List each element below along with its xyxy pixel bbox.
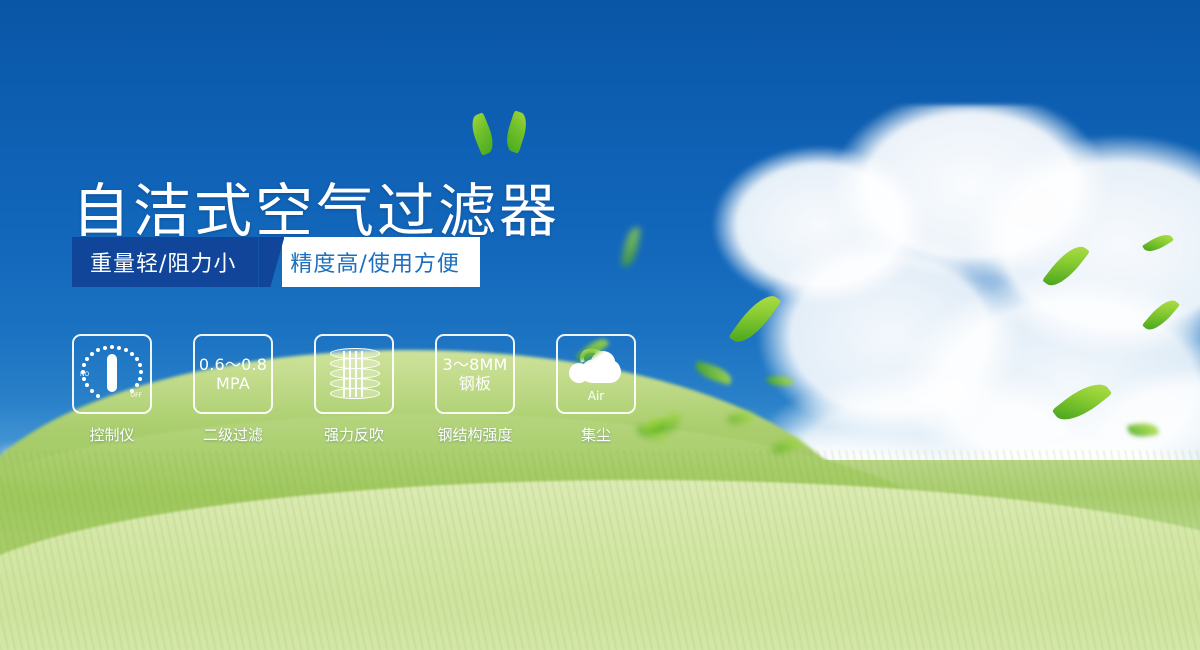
gauge-needle xyxy=(107,354,117,392)
sprout-leaves-icon xyxy=(470,108,540,160)
filter-cartridge-icon xyxy=(330,348,378,400)
tagline-right: 精度高/使用方便 xyxy=(282,237,479,287)
gauge-label-off: OFF xyxy=(130,392,142,399)
feature-caption: 集尘 xyxy=(581,424,611,445)
steel-thickness-text: 3～8MM xyxy=(443,355,508,374)
floating-leaf xyxy=(621,226,640,268)
feature-icon-box xyxy=(314,334,394,414)
feature-strong-backblow[interactable]: 强力反吹 xyxy=(314,334,394,445)
pressure-range-text: 0.6～0.8 xyxy=(199,355,267,374)
tagline-bar: 重量轻/阻力小 精度高/使用方便 xyxy=(72,237,480,287)
hero-banner: 自洁式空气过滤器 重量轻/阻力小 精度高/使用方便 xyxy=(0,0,1200,650)
feature-list: NO OFF 控制仪 0.6～0.8 MPA 二级过滤 xyxy=(72,334,636,445)
tagline-left: 重量轻/阻力小 xyxy=(72,237,258,287)
pressure-unit-text: MPA xyxy=(216,374,250,393)
feature-two-stage-filter[interactable]: 0.6～0.8 MPA 二级过滤 xyxy=(193,334,273,445)
feature-icon-box: 0.6～0.8 MPA xyxy=(193,334,273,414)
feature-caption: 控制仪 xyxy=(89,424,134,445)
feature-icon-box: NO OFF xyxy=(72,334,152,414)
grass-texture xyxy=(0,450,1200,650)
gauge-dial-icon: NO OFF xyxy=(81,345,143,403)
feature-steel-structure[interactable]: 3～8MM 钢板 钢结构强度 xyxy=(435,334,515,445)
feature-caption: 强力反吹 xyxy=(324,424,384,445)
feature-icon-box: 3～8MM 钢板 xyxy=(435,334,515,414)
page-title: 自洁式空气过滤器 xyxy=(72,182,560,240)
tagline-wedge xyxy=(258,237,284,287)
gauge-label-no: NO xyxy=(80,371,89,378)
feature-caption: 钢结构强度 xyxy=(437,424,512,445)
feature-controller[interactable]: NO OFF 控制仪 xyxy=(72,334,152,445)
feature-caption: 二级过滤 xyxy=(203,424,263,445)
air-label: Air xyxy=(567,389,625,403)
steel-plate-text: 钢板 xyxy=(459,374,491,393)
